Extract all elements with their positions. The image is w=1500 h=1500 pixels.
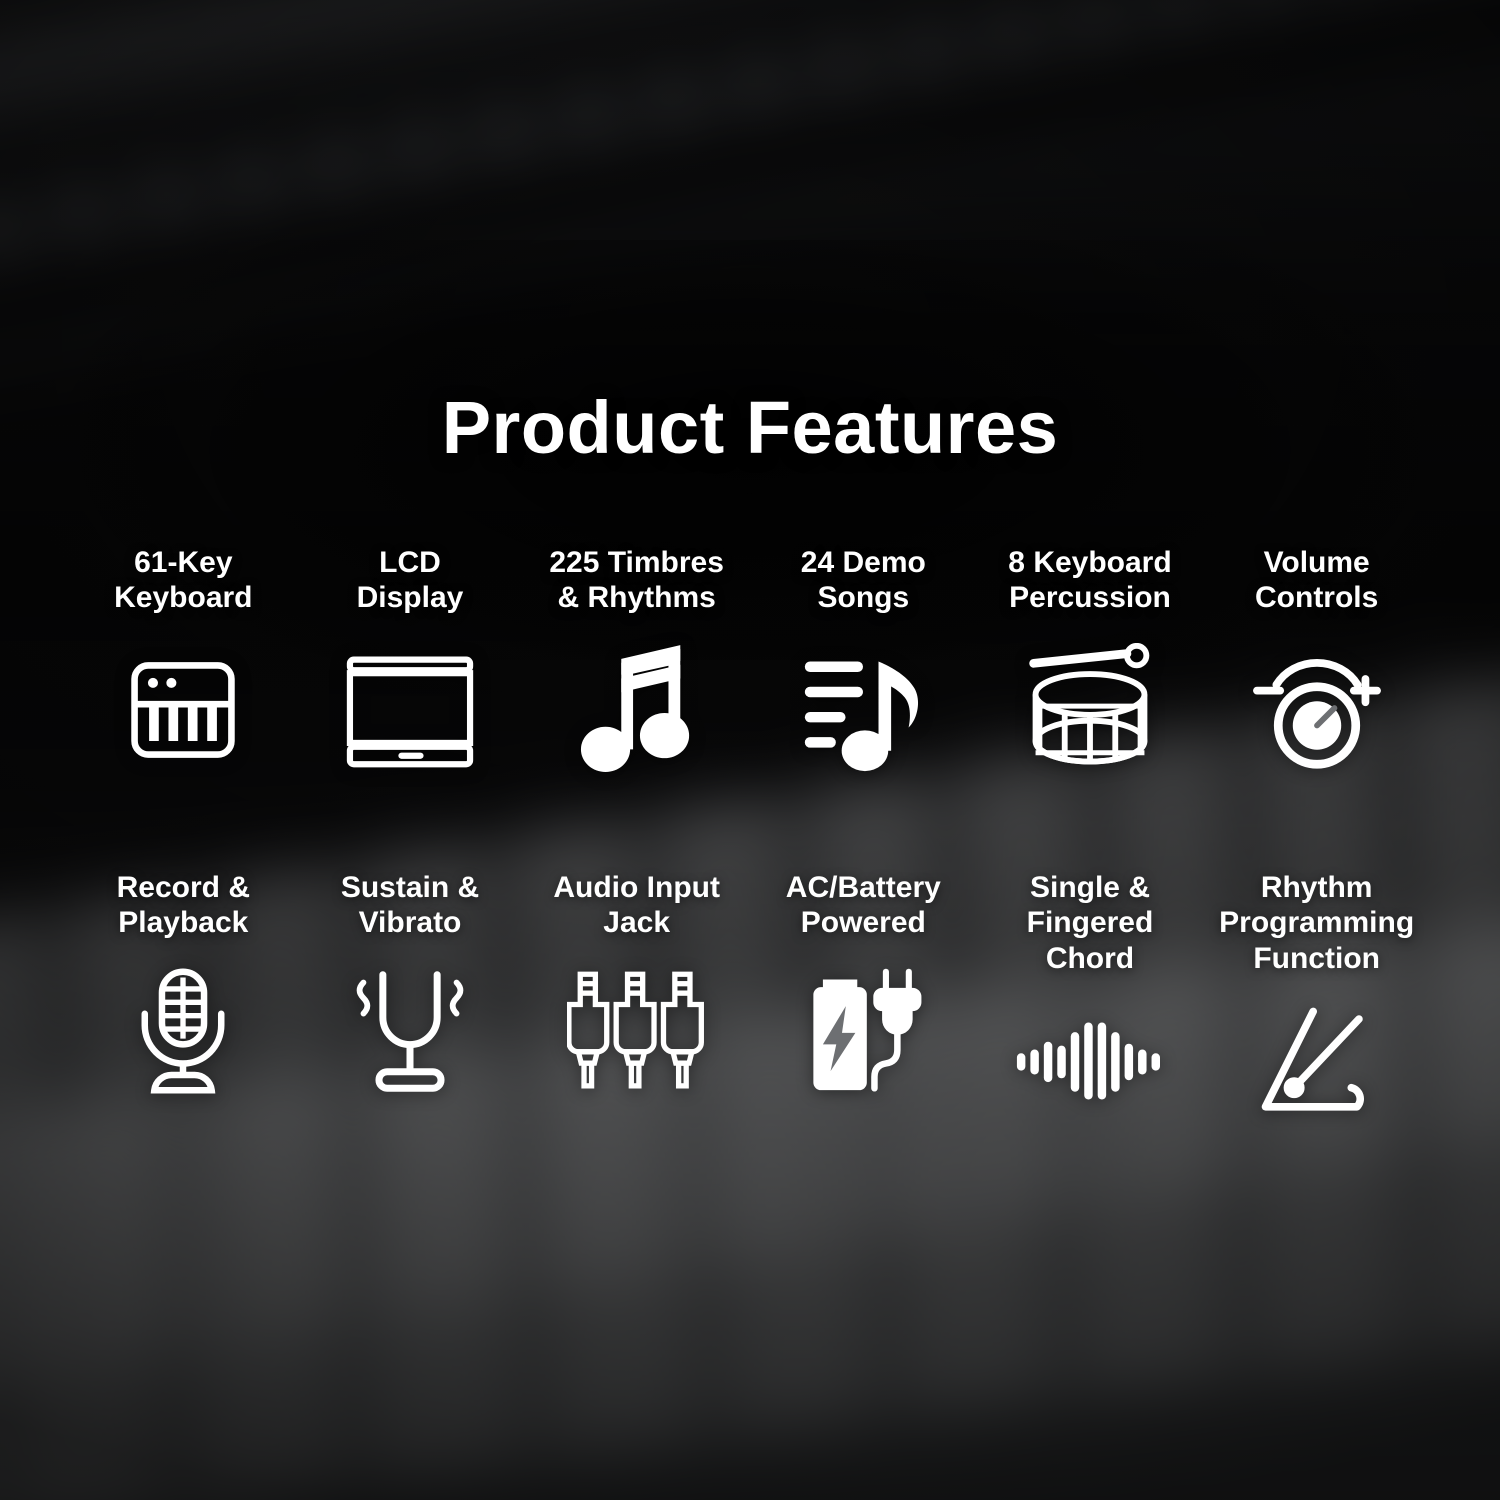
playlist-note-icon	[799, 635, 927, 785]
feature-item-single-fingered-chord: Single & Fingered Chord	[977, 870, 1204, 1136]
feature-label: Volume Controls	[1255, 545, 1378, 621]
lcd-display-icon	[340, 635, 480, 785]
feature-label: 24 Demo Songs	[801, 545, 926, 621]
microphone-icon	[123, 956, 243, 1106]
feature-label-line1: 24 Demo	[801, 546, 926, 579]
feature-label: Audio Input Jack	[553, 870, 720, 946]
feature-item-24-demo-songs: 24 Demo Songs	[750, 545, 977, 785]
feature-label-line2: Jack	[603, 906, 670, 939]
feature-label-line2: Vibrato	[359, 906, 462, 939]
feature-label-line2: Keyboard	[114, 581, 252, 614]
feature-item-8-keyboard-percussion: 8 Keyboard Percussion	[977, 545, 1204, 785]
feature-label-line1: Single &	[1030, 871, 1150, 904]
features-row-1: 61-Key Keyboard	[70, 545, 1430, 785]
feature-label-line2: Playback	[118, 906, 248, 939]
volume-knob-icon	[1251, 635, 1383, 785]
feature-label-line3: Chord	[1046, 942, 1134, 975]
content-layer: Product Features 61-Key Keyboard	[0, 0, 1500, 1500]
feature-label: Rhythm Programming Function	[1219, 870, 1414, 976]
feature-item-sustain-vibrato: Sustain & Vibrato	[297, 870, 524, 1136]
feature-label-line3: Function	[1253, 942, 1380, 975]
feature-label-line1: AC/Battery	[786, 871, 941, 904]
feature-label: Single & Fingered Chord	[1027, 870, 1154, 976]
piano-keyboard-icon	[121, 635, 245, 785]
feature-label-line2: Powered	[801, 906, 926, 939]
feature-item-volume-controls: Volume Controls	[1203, 545, 1430, 785]
features-row-2: Record & Playback	[70, 870, 1430, 1136]
feature-item-record-playback: Record & Playback	[70, 870, 297, 1136]
feature-label-line1: 225 Timbres	[549, 546, 724, 579]
feature-label: AC/Battery Powered	[786, 870, 941, 946]
snare-drum-icon	[1020, 635, 1160, 785]
feature-item-ac-battery-powered: AC/Battery Powered	[750, 870, 977, 1136]
feature-label-line1: Sustain &	[341, 871, 479, 904]
feature-label-line2: Controls	[1255, 581, 1378, 614]
feature-label: Record & Playback	[117, 870, 250, 946]
feature-label-line1: LCD	[379, 546, 441, 579]
page-title: Product Features	[0, 385, 1500, 470]
feature-item-61-key-keyboard: 61-Key Keyboard	[70, 545, 297, 785]
feature-item-audio-input-jack: Audio Input Jack	[523, 870, 750, 1136]
feature-label: Sustain & Vibrato	[341, 870, 479, 946]
beamed-note-icon	[578, 635, 696, 785]
feature-item-lcd-display: LCD Display	[297, 545, 524, 785]
feature-label: 61-Key Keyboard	[114, 545, 252, 621]
waveform-icon	[1015, 986, 1165, 1136]
feature-label-line2: Fingered	[1027, 906, 1154, 939]
feature-label-line2: Display	[357, 581, 464, 614]
feature-label-line1: 61-Key	[134, 546, 232, 579]
feature-item-rhythm-programming-function: Rhythm Programming Function	[1203, 870, 1430, 1136]
feature-label-line2: Percussion	[1009, 581, 1171, 614]
battery-plug-icon	[796, 956, 930, 1106]
feature-label-line1: 8 Keyboard	[1008, 546, 1171, 579]
feature-label-line2: Songs	[817, 581, 909, 614]
infographic-stage: Product Features 61-Key Keyboard	[0, 0, 1500, 1500]
feature-label-line2: & Rhythms	[557, 581, 715, 614]
feature-label-line1: Record &	[117, 871, 250, 904]
feature-label-line1: Rhythm	[1261, 871, 1373, 904]
tuning-fork-icon	[344, 956, 476, 1106]
feature-item-225-timbres-rhythms: 225 Timbres & Rhythms	[523, 545, 750, 785]
audio-jack-icon	[567, 956, 707, 1106]
feature-label: 8 Keyboard Percussion	[1008, 545, 1171, 621]
feature-label: 225 Timbres & Rhythms	[549, 545, 724, 621]
feature-label-line2: Programming	[1219, 906, 1414, 939]
feature-label-line1: Audio Input	[553, 871, 720, 904]
metronome-icon	[1252, 986, 1382, 1136]
feature-label: LCD Display	[357, 545, 464, 621]
feature-label-line1: Volume	[1264, 546, 1370, 579]
